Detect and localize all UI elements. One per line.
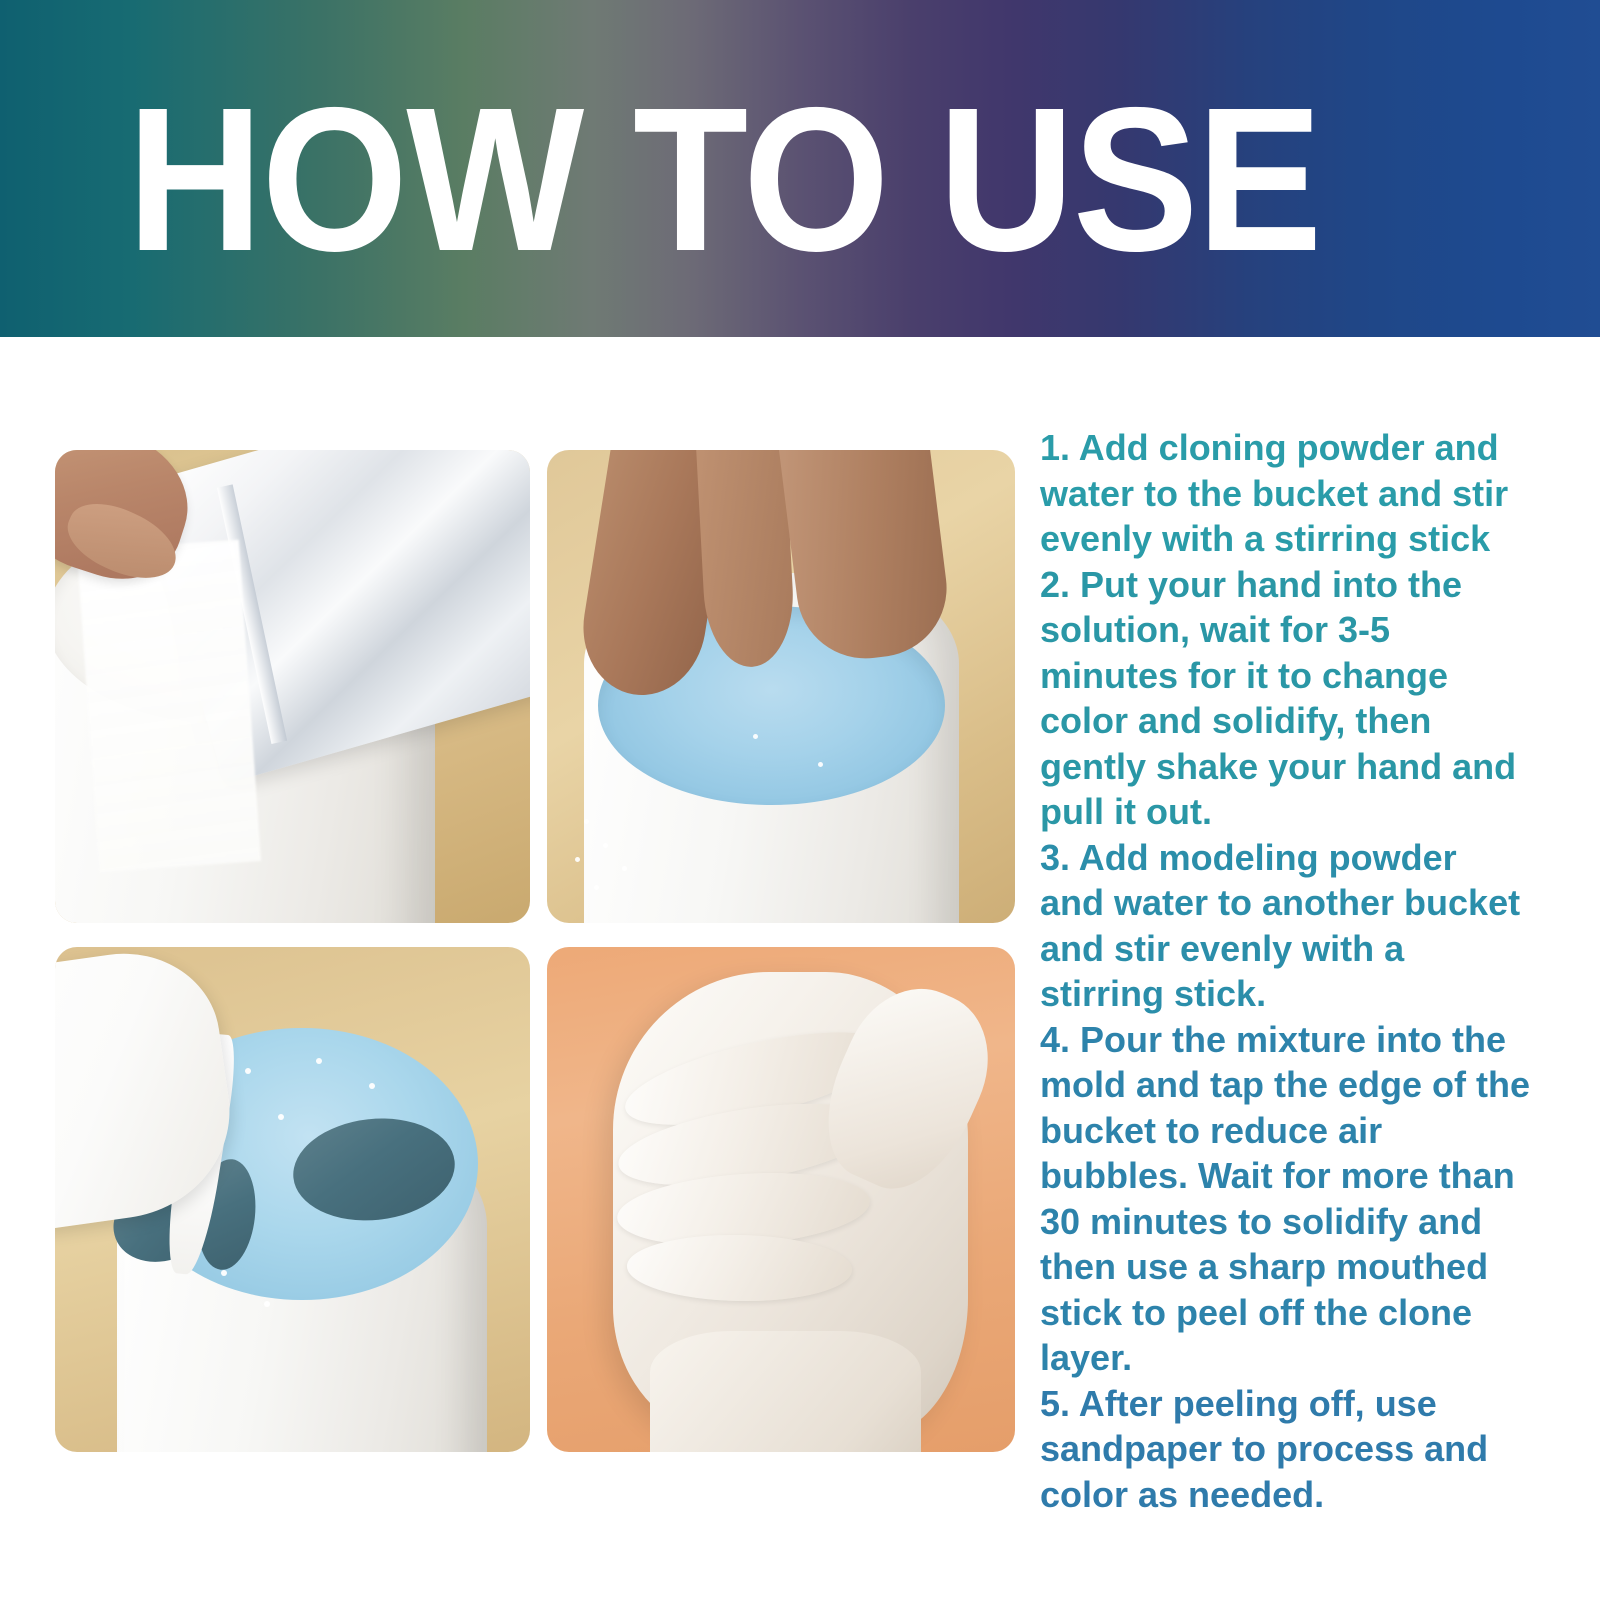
bubble-speck xyxy=(278,1114,284,1120)
powder-speck xyxy=(603,843,608,848)
photo-pour-mixture xyxy=(55,947,530,1452)
page-title: HOW TO USE xyxy=(127,80,1360,280)
photo-add-powder xyxy=(55,450,530,923)
powder-stream xyxy=(77,539,261,871)
photo-hand-in-solution xyxy=(547,450,1015,923)
instruction-step-5: 5. After peeling off, use sandpaper to p… xyxy=(1040,1381,1530,1518)
bubble-speck xyxy=(264,1301,270,1307)
photo-finished-cast xyxy=(547,947,1015,1452)
instruction-step-3: 3. Add modeling powder and water to anot… xyxy=(1040,835,1530,1017)
cast-wrist xyxy=(650,1331,921,1452)
photo-grid xyxy=(55,450,1015,1450)
powder-speck xyxy=(594,885,599,890)
powder-speck xyxy=(575,857,580,862)
main-content: 1. Add cloning powder and water to the b… xyxy=(0,337,1600,1600)
header-banner: HOW TO USE xyxy=(0,0,1600,337)
instruction-step-4: 4. Pour the mixture into the mold and ta… xyxy=(1040,1017,1530,1381)
instruction-list: 1. Add cloning powder and water to the b… xyxy=(1040,425,1530,1517)
powder-speck xyxy=(753,734,758,739)
instruction-step-2: 2. Put your hand into the solution, wait… xyxy=(1040,562,1530,835)
instruction-step-1: 1. Add cloning powder and water to the b… xyxy=(1040,425,1530,562)
bubble-speck xyxy=(369,1083,375,1089)
